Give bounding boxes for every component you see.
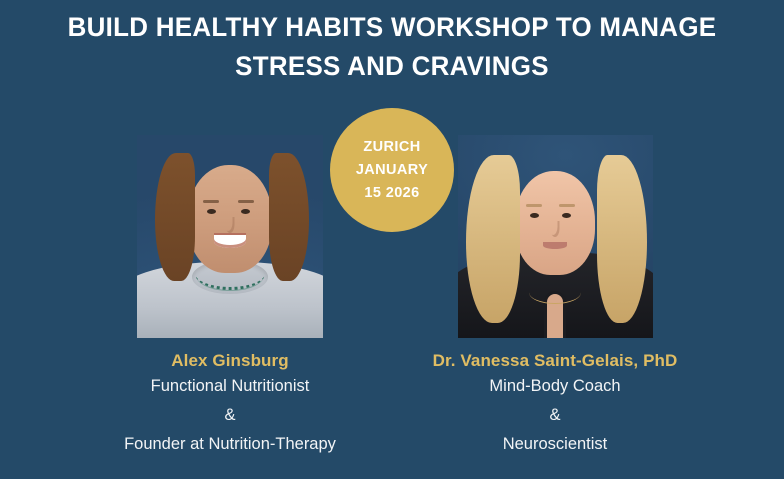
badge-month: JANUARY [356, 159, 428, 182]
title-line-1: BUILD HEALTHY HABITS WORKSHOP TO MANAGE [16, 8, 769, 47]
speaker-role-1a: Functional Nutritionist [60, 372, 400, 401]
nose-shape-1 [226, 217, 235, 233]
eyebrow-right-2 [559, 204, 575, 207]
speaker-role-2a: Mind-Body Coach [385, 372, 725, 401]
page-title: BUILD HEALTHY HABITS WORKSHOP TO MANAGE … [0, 8, 784, 86]
speaker-caption-1: Alex Ginsburg Functional Nutritionist & … [60, 350, 400, 459]
badge-city: ZURICH [363, 136, 420, 159]
eye-right-2 [562, 213, 571, 218]
event-poster: BUILD HEALTHY HABITS WORKSHOP TO MANAGE … [0, 0, 784, 479]
hair-front-left-2 [466, 155, 520, 323]
eye-left-1 [207, 209, 216, 214]
speaker-name-2: Dr. Vanessa Saint-Gelais, PhD [385, 350, 725, 372]
hair-front-right-1 [269, 153, 309, 281]
mouth-shape-1 [214, 235, 246, 248]
speaker-photo-2 [458, 135, 653, 338]
necklace-shape-2 [529, 281, 581, 304]
badge-day-year: 15 2026 [364, 182, 419, 205]
eye-right-1 [241, 209, 250, 214]
speaker-role-2b: Neuroscientist [385, 430, 725, 459]
eyebrow-left-2 [526, 204, 542, 207]
speaker-photo-1 [137, 135, 323, 338]
speaker-caption-2: Dr. Vanessa Saint-Gelais, PhD Mind-Body … [385, 350, 725, 459]
hair-front-right-2 [597, 155, 647, 323]
speaker-role-1b: Founder at Nutrition-Therapy [60, 430, 400, 459]
eyebrow-left-1 [203, 200, 219, 203]
event-date-badge: ZURICH JANUARY 15 2026 [330, 108, 454, 232]
eye-left-2 [530, 213, 539, 218]
mouth-shape-2 [543, 242, 567, 249]
title-line-2: STRESS AND CRAVINGS [16, 47, 769, 86]
eyebrow-right-1 [238, 200, 254, 203]
speaker-role-separator-1: & [60, 401, 400, 430]
hair-front-left-1 [155, 153, 195, 281]
nose-shape-2 [551, 221, 560, 237]
speaker-name-1: Alex Ginsburg [60, 350, 400, 372]
speaker-role-separator-2: & [385, 401, 725, 430]
